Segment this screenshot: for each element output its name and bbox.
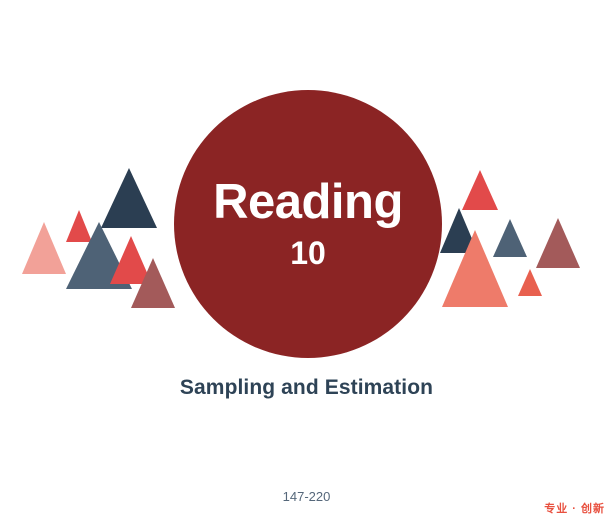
triangle-slate-right [493, 219, 527, 257]
watermark-label: 专业 · 创新 [544, 500, 605, 516]
reading-circle-badge: Reading 10 [174, 90, 442, 358]
reading-title: Reading [213, 177, 403, 228]
triangle-pink-left-far [22, 222, 66, 274]
triangle-brown-right [536, 218, 580, 268]
reading-number: 10 [290, 236, 326, 271]
slide-subtitle: Sampling and Estimation [0, 376, 613, 400]
triangle-navy-left-tall [101, 168, 157, 228]
page-range-label: 147-220 [0, 489, 613, 504]
slide-canvas: Reading 10 Sampling and Estimation 147-2… [0, 0, 613, 520]
triangle-red-right-top [462, 170, 498, 210]
triangle-salmon-right-sm [518, 269, 542, 296]
triangle-red-left-small [66, 210, 92, 242]
